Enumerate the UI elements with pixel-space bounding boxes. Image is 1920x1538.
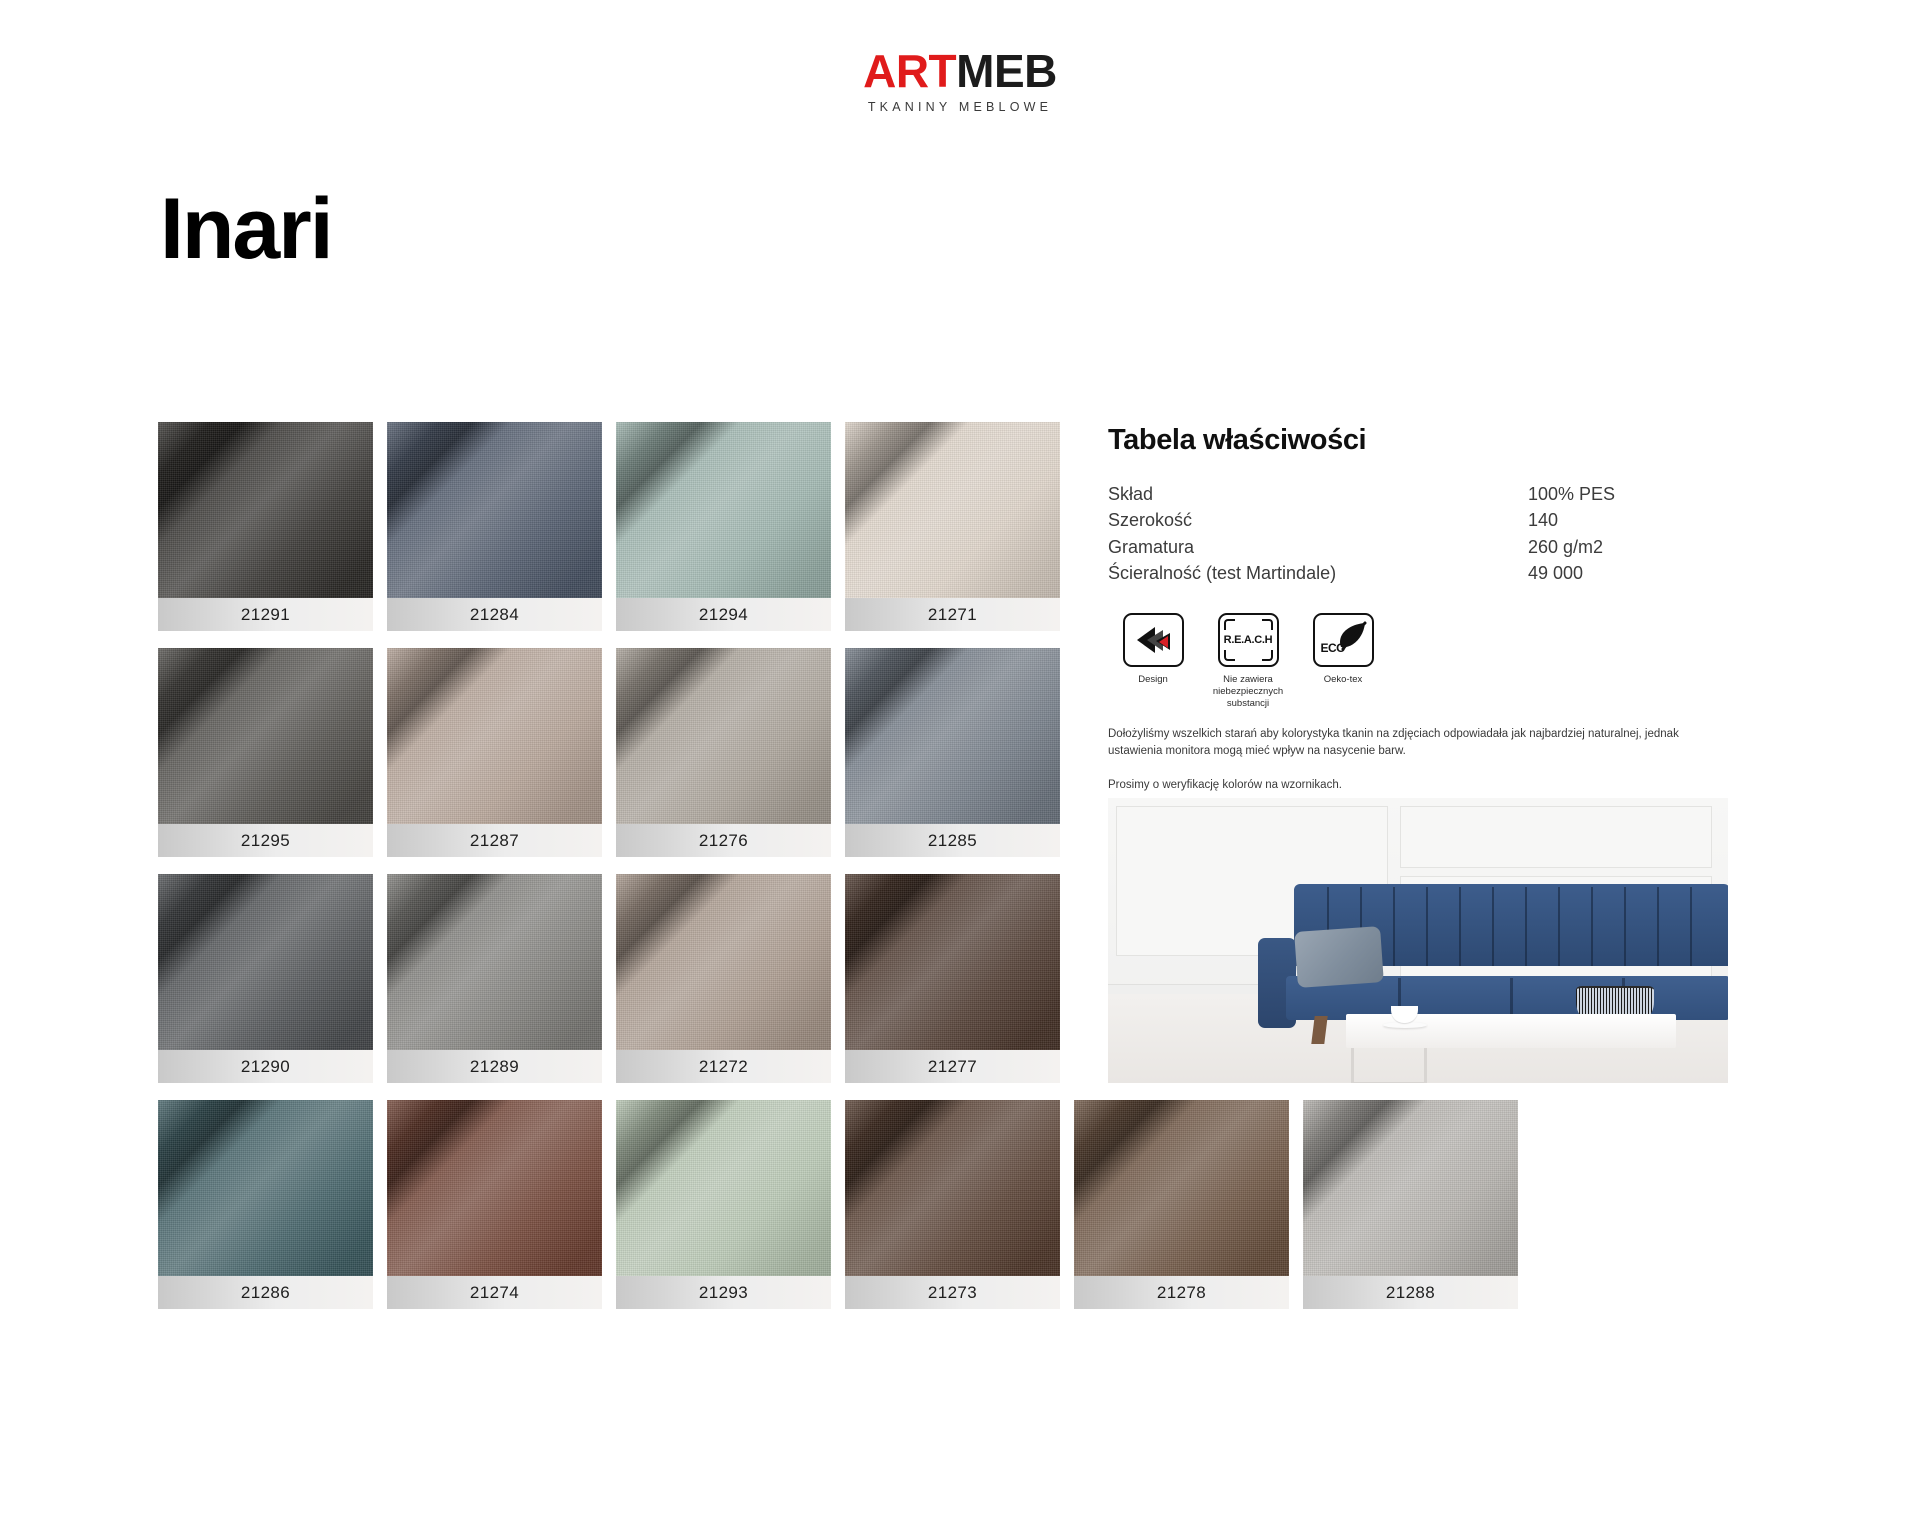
badge-oekotex: ECO Oeko-tex	[1298, 613, 1388, 710]
design-chevron-icon	[1123, 613, 1184, 667]
fabric-texture	[387, 874, 602, 1050]
fabric-texture	[845, 874, 1060, 1050]
fabric-swatch-image	[1303, 1100, 1518, 1276]
wall-panel	[1400, 806, 1712, 868]
reach-corner-tl	[1224, 619, 1235, 630]
coffee-table-leg	[1351, 1048, 1354, 1083]
fabric-swatch[interactable]: 21271	[845, 422, 1060, 631]
fabric-texture	[616, 648, 831, 824]
reach-corner-tr	[1262, 619, 1273, 630]
eco-label: ECO	[1321, 641, 1346, 655]
color-disclaimer: Dołożyliśmy wszelkich starań aby kolorys…	[1108, 726, 1730, 794]
fabric-swatch-code: 21273	[845, 1276, 1060, 1309]
property-label: Skład	[1108, 481, 1518, 507]
fabric-texture	[387, 648, 602, 824]
logo-art-text: ART	[863, 45, 956, 97]
reach-corner-bl	[1224, 650, 1235, 661]
fabric-swatch[interactable]: 21287	[387, 648, 602, 857]
fabric-swatch[interactable]: 21293	[616, 1100, 831, 1309]
fabric-swatch[interactable]: 21294	[616, 422, 831, 631]
fabric-texture	[616, 422, 831, 598]
fabric-swatch[interactable]: 21272	[616, 874, 831, 1083]
coffee-table-rail	[1351, 1082, 1427, 1083]
fabric-swatch-code: 21285	[845, 824, 1060, 857]
eco-leaf-glyph	[1315, 615, 1372, 665]
property-label: Ścieralność (test Martindale)	[1108, 560, 1518, 586]
fabric-swatch-image	[158, 648, 373, 824]
fabric-swatch[interactable]: 21295	[158, 648, 373, 857]
table-row: Szerokość 140	[1108, 507, 1728, 533]
fabric-swatch[interactable]: 21291	[158, 422, 373, 631]
fabric-swatch-code: 21277	[845, 1050, 1060, 1083]
design-chevron-glyph	[1125, 615, 1182, 665]
fabric-swatch-code: 21293	[616, 1276, 831, 1309]
fabric-swatch[interactable]: 21273	[845, 1100, 1060, 1309]
fabric-swatch-code: 21294	[616, 598, 831, 631]
fabric-swatch[interactable]: 21284	[387, 422, 602, 631]
fabric-swatch[interactable]: 21290	[158, 874, 373, 1083]
fabric-texture	[616, 874, 831, 1050]
fabric-swatch-code: 21288	[1303, 1276, 1518, 1309]
disclaimer-paragraph-1: Dołożyliśmy wszelkich starań aby kolorys…	[1108, 726, 1730, 759]
fabric-texture	[845, 1100, 1060, 1276]
logo-meb-text: MEB	[956, 45, 1057, 97]
fabric-swatch-code: 21290	[158, 1050, 373, 1083]
coffee-table-leg	[1424, 1048, 1427, 1082]
fabric-texture	[1303, 1100, 1518, 1276]
fabric-swatch-image	[387, 648, 602, 824]
fabric-swatch-image	[616, 1100, 831, 1276]
fabric-swatch-image	[616, 874, 831, 1050]
throw-pillow	[1294, 926, 1384, 988]
fabric-swatch-image	[616, 422, 831, 598]
property-value: 140	[1518, 507, 1728, 533]
badge-caption: Nie zawiera niebezpiecznych substancji	[1203, 674, 1293, 710]
table-row: Ścieralność (test Martindale) 49 000	[1108, 560, 1728, 586]
reach-icon: R.E.A.C.H	[1218, 613, 1279, 667]
brand-logo: ARTMEB TKANINY MEBLOWE	[0, 48, 1920, 114]
table-row: Skład 100% PES	[1108, 481, 1728, 507]
fabric-texture	[158, 422, 373, 598]
fabric-swatch-image	[1074, 1100, 1289, 1276]
badge-design: Design	[1108, 613, 1198, 710]
property-label: Szerokość	[1108, 507, 1518, 533]
badge-caption: Design	[1108, 674, 1198, 686]
logo-wordmark: ARTMEB	[863, 48, 1057, 94]
fabric-swatch-code: 21295	[158, 824, 373, 857]
fabric-texture	[158, 874, 373, 1050]
fabric-texture	[158, 1100, 373, 1276]
fabric-swatch-image	[845, 648, 1060, 824]
fabric-swatch-code: 21272	[616, 1050, 831, 1083]
reach-corner-br	[1262, 650, 1273, 661]
fabric-swatch[interactable]: 21288	[1303, 1100, 1518, 1309]
fabric-swatch[interactable]: 21276	[616, 648, 831, 857]
fabric-swatch-code: 21284	[387, 598, 602, 631]
fabric-swatch[interactable]: 21278	[1074, 1100, 1289, 1309]
property-value: 49 000	[1518, 560, 1728, 586]
property-value: 100% PES	[1518, 481, 1728, 507]
fabric-texture	[387, 422, 602, 598]
fabric-swatch-image	[387, 874, 602, 1050]
properties-panel: Tabela właściwości Skład 100% PES Szerok…	[1108, 424, 1728, 710]
logo-tagline: TKANINY MEBLOWE	[0, 100, 1920, 114]
fabric-swatch-image	[845, 874, 1060, 1050]
property-label: Gramatura	[1108, 534, 1518, 560]
fabric-swatch[interactable]: 21277	[845, 874, 1060, 1083]
fabric-swatch-code: 21278	[1074, 1276, 1289, 1309]
reach-label: R.E.A.C.H	[1220, 634, 1277, 646]
fabric-swatch-code: 21291	[158, 598, 373, 631]
fabric-swatch[interactable]: 21289	[387, 874, 602, 1083]
fabric-swatch[interactable]: 21285	[845, 648, 1060, 857]
table-row: Gramatura 260 g/m2	[1108, 534, 1728, 560]
properties-heading: Tabela właściwości	[1108, 424, 1728, 457]
fabric-texture	[1074, 1100, 1289, 1276]
certification-badges: Design R.E.A.C.H Nie zawiera niebezpiecz…	[1108, 613, 1728, 710]
fabric-swatch-image	[387, 1100, 602, 1276]
fabric-swatch-image	[845, 1100, 1060, 1276]
fabric-swatch[interactable]: 21274	[387, 1100, 602, 1309]
fabric-swatch-code: 21287	[387, 824, 602, 857]
properties-table: Skład 100% PES Szerokość 140 Gramatura 2…	[1108, 481, 1728, 587]
eco-leaf-icon: ECO	[1313, 613, 1374, 667]
fabric-swatch-code: 21274	[387, 1276, 602, 1309]
fabric-swatch-image	[616, 648, 831, 824]
fabric-swatch-image	[158, 1100, 373, 1276]
room-interior-photo	[1108, 798, 1728, 1083]
property-value: 260 g/m2	[1518, 534, 1728, 560]
badge-caption: Oeko-tex	[1298, 674, 1388, 686]
fabric-swatch-image	[158, 874, 373, 1050]
fabric-swatch-image	[845, 422, 1060, 598]
fabric-swatch-code: 21289	[387, 1050, 602, 1083]
fabric-swatch-code: 21286	[158, 1276, 373, 1309]
badge-reach: R.E.A.C.H Nie zawiera niebezpiecznych su…	[1203, 613, 1293, 710]
fabric-texture	[387, 1100, 602, 1276]
fabric-texture	[845, 422, 1060, 598]
swatch-row: 21286 21274 21293 21273 21278	[158, 1100, 1538, 1309]
fabric-texture	[616, 1100, 831, 1276]
fabric-swatch-image	[387, 422, 602, 598]
fabric-swatch-image	[158, 422, 373, 598]
fabric-swatch[interactable]: 21286	[158, 1100, 373, 1309]
fabric-swatch-code: 21276	[616, 824, 831, 857]
fabric-swatch-code: 21271	[845, 598, 1060, 631]
fabric-texture	[158, 648, 373, 824]
disclaimer-paragraph-2: Prosimy o weryfikację kolorów na wzornik…	[1108, 777, 1730, 794]
fabric-texture	[845, 648, 1060, 824]
page-title: Inari	[160, 186, 332, 272]
